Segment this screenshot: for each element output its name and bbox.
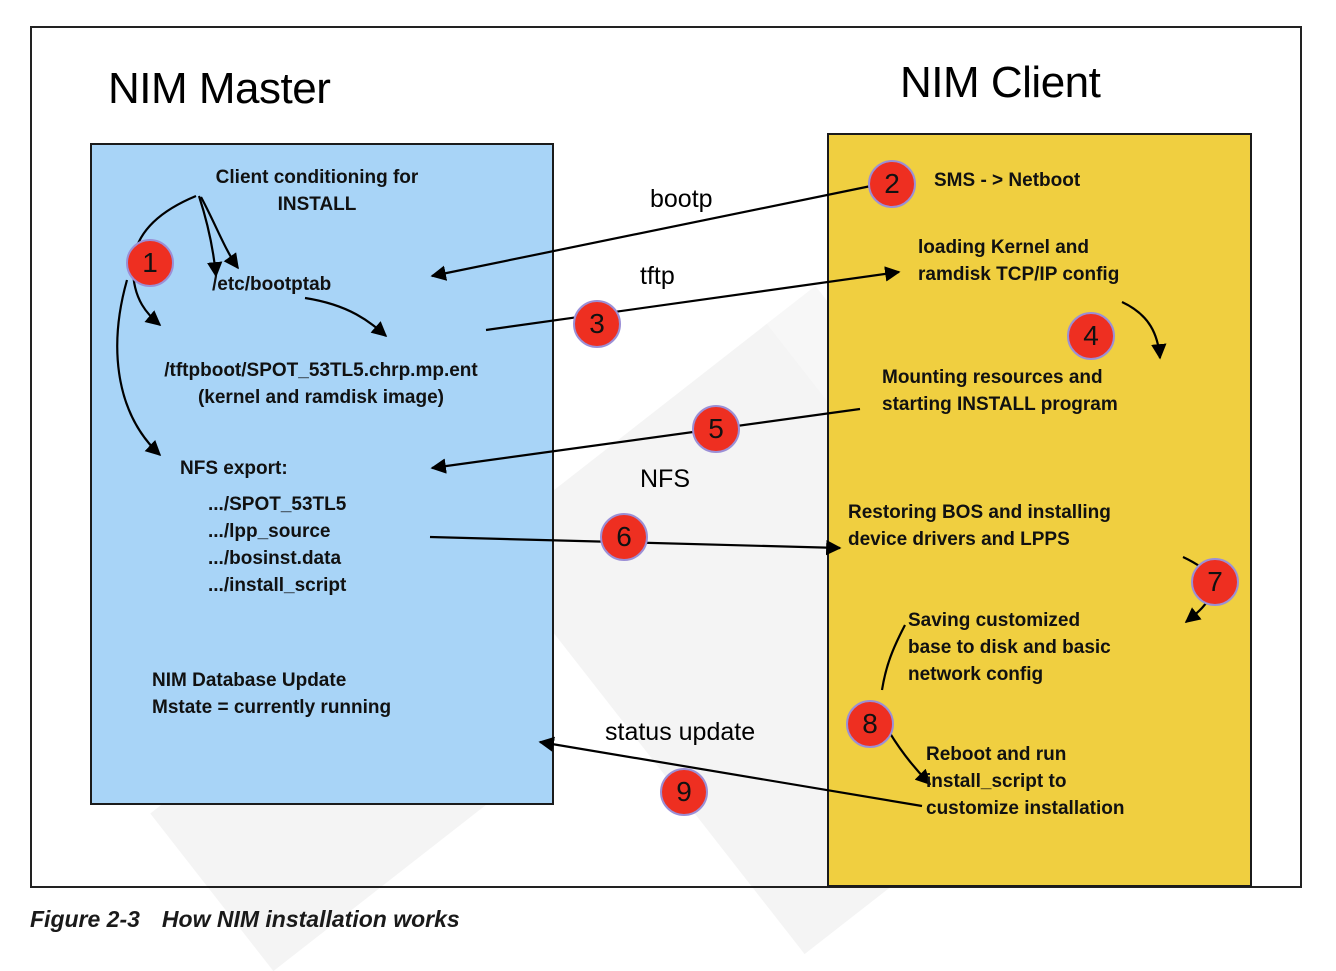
client-text-mounting: Mounting resources and starting INSTALL … (882, 365, 1242, 419)
client-text-restoring: Restoring BOS and installing device driv… (848, 500, 1248, 554)
step-circle-1: 1 (126, 239, 174, 287)
master-text-conditioning: Client conditioning for INSTALL (152, 165, 482, 219)
client-text-saving: Saving customized base to disk and basic… (908, 608, 1238, 689)
step-circle-9: 9 (660, 768, 708, 816)
client-text-reboot: Reboot and run install_script to customi… (926, 742, 1256, 823)
step-circle-8: 8 (846, 700, 894, 748)
protocol-label-status-update: status update (605, 718, 755, 747)
nim-client-title: NIM Client (900, 58, 1100, 108)
figure-caption: Figure 2-3How NIM installation works (30, 906, 460, 933)
step-circle-2: 2 (868, 160, 916, 208)
figure-canvas: NIM Master NIM Client (0, 0, 1336, 968)
master-text-nfs-items: .../SPOT_53TL5 .../lpp_source .../bosins… (208, 492, 508, 600)
figure-caption-number: Figure 2-3 (30, 906, 140, 932)
step-circle-5: 5 (692, 405, 740, 453)
client-text-sms: SMS - > Netboot (934, 168, 1214, 195)
nim-master-title: NIM Master (108, 64, 330, 114)
master-text-db-update: NIM Database Update Mstate = currently r… (152, 668, 532, 722)
step-circle-3: 3 (573, 300, 621, 348)
protocol-label-tftp: tftp (640, 262, 675, 291)
figure-caption-text: How NIM installation works (162, 906, 460, 932)
client-text-loading: loading Kernel and ramdisk TCP/IP config (918, 235, 1248, 289)
step-circle-6: 6 (600, 513, 648, 561)
master-text-tftpboot: /tftpboot/SPOT_53TL5.chrp.mp.ent (kernel… (96, 358, 546, 412)
step-circle-7: 7 (1191, 558, 1239, 606)
step-circle-4: 4 (1067, 312, 1115, 360)
master-text-nfs-export: NFS export: (180, 456, 440, 483)
master-text-bootptab: /etc/bootptab (212, 272, 432, 299)
protocol-label-bootp: bootp (650, 185, 713, 214)
protocol-label-nfs: NFS (640, 465, 690, 494)
